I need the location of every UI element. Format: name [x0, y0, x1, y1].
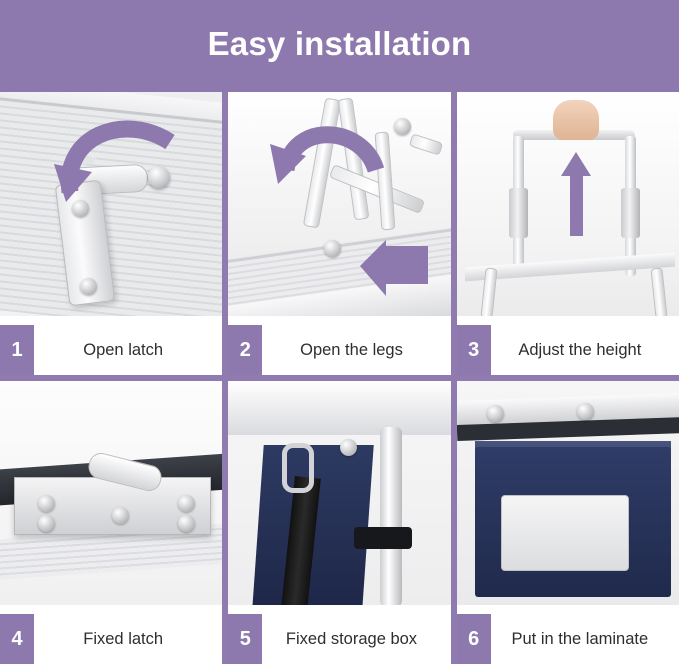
step-1-photo: [0, 92, 222, 316]
leg-lock-collar-right: [621, 188, 640, 238]
step-caption-text: Adjust the height: [491, 341, 679, 360]
step-number-badge: 4: [0, 614, 34, 664]
step-5-photo: [228, 381, 450, 605]
hand-icon: [553, 100, 599, 140]
step-2-caption: 2 Open the legs: [228, 325, 450, 375]
step-panel-1: 1 Open latch: [0, 92, 222, 375]
step-number-badge: 3: [457, 325, 491, 375]
step-caption-text: Open the legs: [262, 341, 450, 360]
step-5-caption: 5 Fixed storage box: [228, 614, 450, 664]
step-3-photo: [457, 92, 679, 316]
rivet-icon: [178, 515, 195, 532]
step-4-caption: 4 Fixed latch: [0, 614, 222, 664]
rivet-icon: [487, 405, 504, 422]
step-caption-text: Open latch: [34, 341, 222, 360]
rivet-icon: [38, 515, 55, 532]
rivet-icon: [38, 495, 55, 512]
step-caption-text: Fixed storage box: [262, 630, 450, 649]
rivet-icon: [577, 403, 594, 420]
leg-clamp: [354, 527, 412, 549]
laminate-panel: [501, 495, 629, 571]
step-panel-5: 5 Fixed storage box: [228, 381, 450, 664]
step-caption-text: Fixed latch: [34, 630, 222, 649]
steps-grid: 1 Open latch: [0, 92, 679, 664]
latch-pivot-icon: [112, 507, 129, 524]
latch-knob: [148, 166, 170, 188]
easy-installation-infographic: Easy installation 1 O: [0, 0, 679, 664]
step-number-badge: 1: [0, 325, 34, 375]
step-panel-2: 2 Open the legs: [228, 92, 450, 375]
step-6-caption: 6 Put in the laminate: [457, 614, 679, 664]
step-3-caption: 3 Adjust the height: [457, 325, 679, 375]
step-panel-3: 3 Adjust the height: [457, 92, 679, 375]
table-underside: [228, 381, 450, 435]
step-panel-4: 4 Fixed latch: [0, 381, 222, 664]
rivet-icon: [80, 278, 97, 295]
rivet-icon: [178, 495, 195, 512]
step-number-badge: 5: [228, 614, 262, 664]
step-caption-text: Put in the laminate: [491, 630, 679, 649]
step-6-photo: [457, 381, 679, 605]
step-number-badge: 6: [457, 614, 491, 664]
up-arrow-icon: [561, 152, 591, 236]
step-number-badge: 2: [228, 325, 262, 375]
step-4-photo: [0, 381, 222, 605]
header-banner: Easy installation: [0, 0, 679, 92]
table-leg: [380, 427, 402, 605]
step-1-caption: 1 Open latch: [0, 325, 222, 375]
page-title: Easy installation: [208, 25, 472, 63]
leg-lock-collar-left: [509, 188, 528, 238]
step-2-photo: [228, 92, 450, 316]
step-panel-6: 6 Put in the laminate: [457, 381, 679, 664]
carabiner-clip-icon: [282, 443, 314, 493]
rivet-icon: [72, 200, 89, 217]
